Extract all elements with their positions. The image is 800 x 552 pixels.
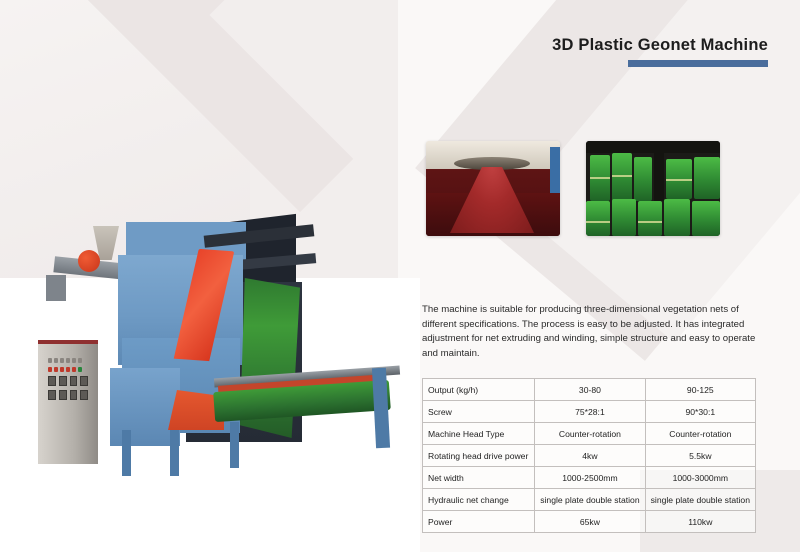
photo-blue-panel (550, 147, 560, 193)
spec-value-model-a: single plate double station (535, 489, 645, 511)
photo-net-roll (664, 199, 690, 236)
spec-value-model-a: 1000-2500mm (535, 467, 645, 489)
spec-value-model-b: 90*30:1 (645, 401, 755, 423)
table-row: Hydraulic net change single plate double… (423, 489, 756, 511)
machine-red-wheel (78, 250, 100, 272)
photo-net-roll (638, 201, 662, 236)
spec-label: Output (kg/h) (423, 379, 535, 401)
title-underline-bar (628, 60, 768, 67)
photo-roll-strap (666, 179, 692, 181)
spec-value-model-a: 65kw (535, 511, 645, 533)
indicator-light (54, 367, 58, 372)
indicator-light (54, 358, 58, 363)
spec-label: Rotating head drive power (423, 445, 535, 467)
page-title: 3D Plastic Geonet Machine (552, 36, 768, 55)
photo-roll-strap (638, 221, 662, 223)
specification-table-body: Output (kg/h) 30-80 90-125 Screw 75*28:1… (423, 379, 756, 533)
table-row: Power 65kw 110kw (423, 511, 756, 533)
photo-net-roll (612, 199, 636, 236)
panel-switch (59, 390, 67, 400)
panel-switch (80, 376, 88, 386)
machine-control-cabinet (38, 340, 98, 464)
indicator-light (48, 358, 52, 363)
spec-value-model-b: 90-125 (645, 379, 755, 401)
photo-net-roll (612, 153, 632, 201)
spec-value-model-b: 110kw (645, 511, 755, 533)
spec-label: Screw (423, 401, 535, 423)
indicator-light (78, 358, 82, 363)
indicator-light (60, 367, 64, 372)
switch-row (48, 390, 88, 400)
panel-switch (70, 376, 78, 386)
indicator-light-row (48, 367, 88, 372)
spec-label: Hydraulic net change (423, 489, 535, 511)
photo-roll-strap (586, 221, 610, 223)
indicator-light (78, 367, 82, 372)
machine-leg (170, 430, 179, 476)
main-machine-photo (18, 100, 418, 410)
panel-switch (48, 390, 56, 400)
photo-ceiling-shadow (586, 141, 720, 153)
indicator-light (72, 367, 76, 372)
spec-label: Power (423, 511, 535, 533)
photo-net-roll (692, 201, 720, 236)
panel-switch (48, 376, 56, 386)
photo-net-roll (586, 201, 610, 236)
photo-net-roll (694, 157, 720, 199)
photo-gap-shadow (654, 153, 664, 201)
spec-value-model-a: Counter-rotation (535, 423, 645, 445)
machine-motor (46, 275, 66, 301)
page-title-block: 3D Plastic Geonet Machine (552, 36, 768, 67)
indicator-light (72, 358, 76, 363)
machine-leg (122, 430, 131, 476)
photo-net-roll (634, 157, 652, 201)
specification-table: Output (kg/h) 30-80 90-125 Screw 75*28:1… (422, 378, 756, 533)
spec-label: Machine Head Type (423, 423, 535, 445)
green-net-rolls-photo (586, 141, 720, 236)
switch-row (48, 376, 88, 386)
indicator-light (60, 358, 64, 363)
photo-roll-strap (612, 175, 632, 177)
table-row: Rotating head drive power 4kw 5.5kw (423, 445, 756, 467)
table-row: Net width 1000-2500mm 1000-3000mm (423, 467, 756, 489)
panel-switch (59, 376, 67, 386)
indicator-light (66, 367, 70, 372)
spec-value-model-b: 1000-3000mm (645, 467, 755, 489)
spec-value-model-b: Counter-rotation (645, 423, 755, 445)
table-row: Machine Head Type Counter-rotation Count… (423, 423, 756, 445)
indicator-light (66, 358, 70, 363)
spec-value-model-b: 5.5kw (645, 445, 755, 467)
control-panel (48, 358, 88, 408)
red-net-cone-photo (426, 141, 560, 236)
brochure-page: 3D Plastic Geonet Machine (0, 0, 800, 552)
spec-label: Net width (423, 467, 535, 489)
panel-switch (80, 390, 88, 400)
machine-leg (230, 422, 239, 468)
spec-value-model-a: 4kw (535, 445, 645, 467)
indicator-light-row (48, 358, 88, 363)
table-row: Output (kg/h) 30-80 90-125 (423, 379, 756, 401)
photo-roll-strap (590, 177, 610, 179)
spec-value-model-b: single plate double station (645, 489, 755, 511)
spec-value-model-a: 75*28:1 (535, 401, 645, 423)
table-row: Screw 75*28:1 90*30:1 (423, 401, 756, 423)
indicator-light (48, 367, 52, 372)
spec-value-model-a: 30-80 (535, 379, 645, 401)
product-description: The machine is suitable for producing th… (422, 303, 760, 361)
panel-switch (70, 390, 78, 400)
